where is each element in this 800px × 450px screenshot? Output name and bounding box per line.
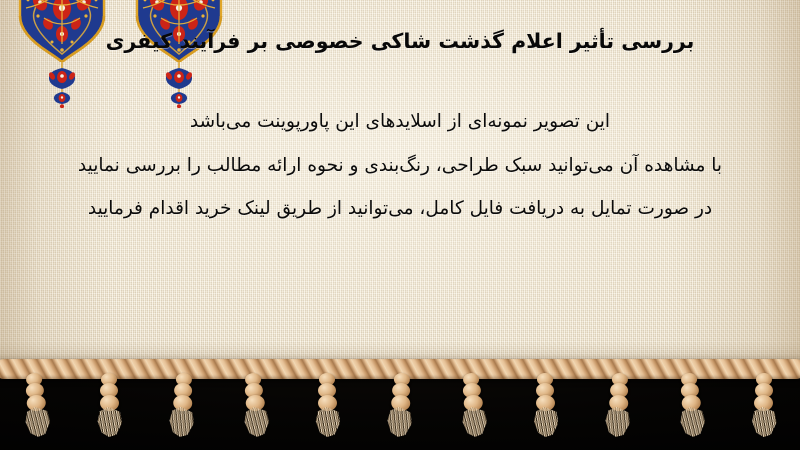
tassel [21, 375, 51, 438]
tassel [239, 375, 269, 438]
tassel-knots [241, 372, 266, 411]
ornament-pendant-drop [45, 62, 79, 108]
slide-title: بررسی تأثیر اعلام گذشت شاکی خصوصی بر فرآ… [14, 28, 786, 56]
tassel [314, 376, 340, 437]
tassel-knots [753, 373, 775, 411]
ornament-pendant-drop-2 [162, 62, 196, 108]
tassel-fluff [314, 407, 340, 437]
slide-canvas: بررسی تأثیر اعلام گذشت شاکی خصوصی بر فرآ… [0, 0, 800, 450]
tassel-fluff [532, 407, 558, 437]
tassel-knots [171, 372, 196, 411]
tassel-knots [607, 372, 632, 411]
body-line-1: این تصویر نمونه‌ای از اسلایدهای این پاور… [10, 113, 790, 132]
body-line-2: با مشاهده آن می‌توانید سبک طراحی، رنگ‌بن… [10, 157, 790, 176]
tassel-fluff [751, 407, 777, 437]
tassel-knots [316, 373, 338, 411]
tassel [167, 375, 197, 438]
bottom-black-band [0, 368, 800, 450]
body-line-3: در صورت تمایل به دریافت فایل کامل، می‌تو… [10, 200, 790, 219]
tassel [458, 375, 488, 438]
tassel [603, 375, 633, 438]
tassel-knots [389, 372, 414, 411]
tassel [676, 375, 706, 438]
slide-body: این تصویر نمونه‌ای از اسلایدهای این پاور… [10, 113, 790, 219]
tassel-knots [459, 372, 484, 411]
tassel-knots [678, 372, 703, 411]
tassel [532, 376, 558, 437]
tassel [385, 375, 415, 438]
tassel-knots [98, 373, 120, 411]
top-ornament-group [0, 0, 800, 115]
tassel-fluff [96, 407, 122, 437]
tassel [751, 376, 777, 437]
tassel [96, 376, 122, 437]
tassel-knots [534, 373, 556, 411]
tassel-knots [23, 372, 48, 411]
